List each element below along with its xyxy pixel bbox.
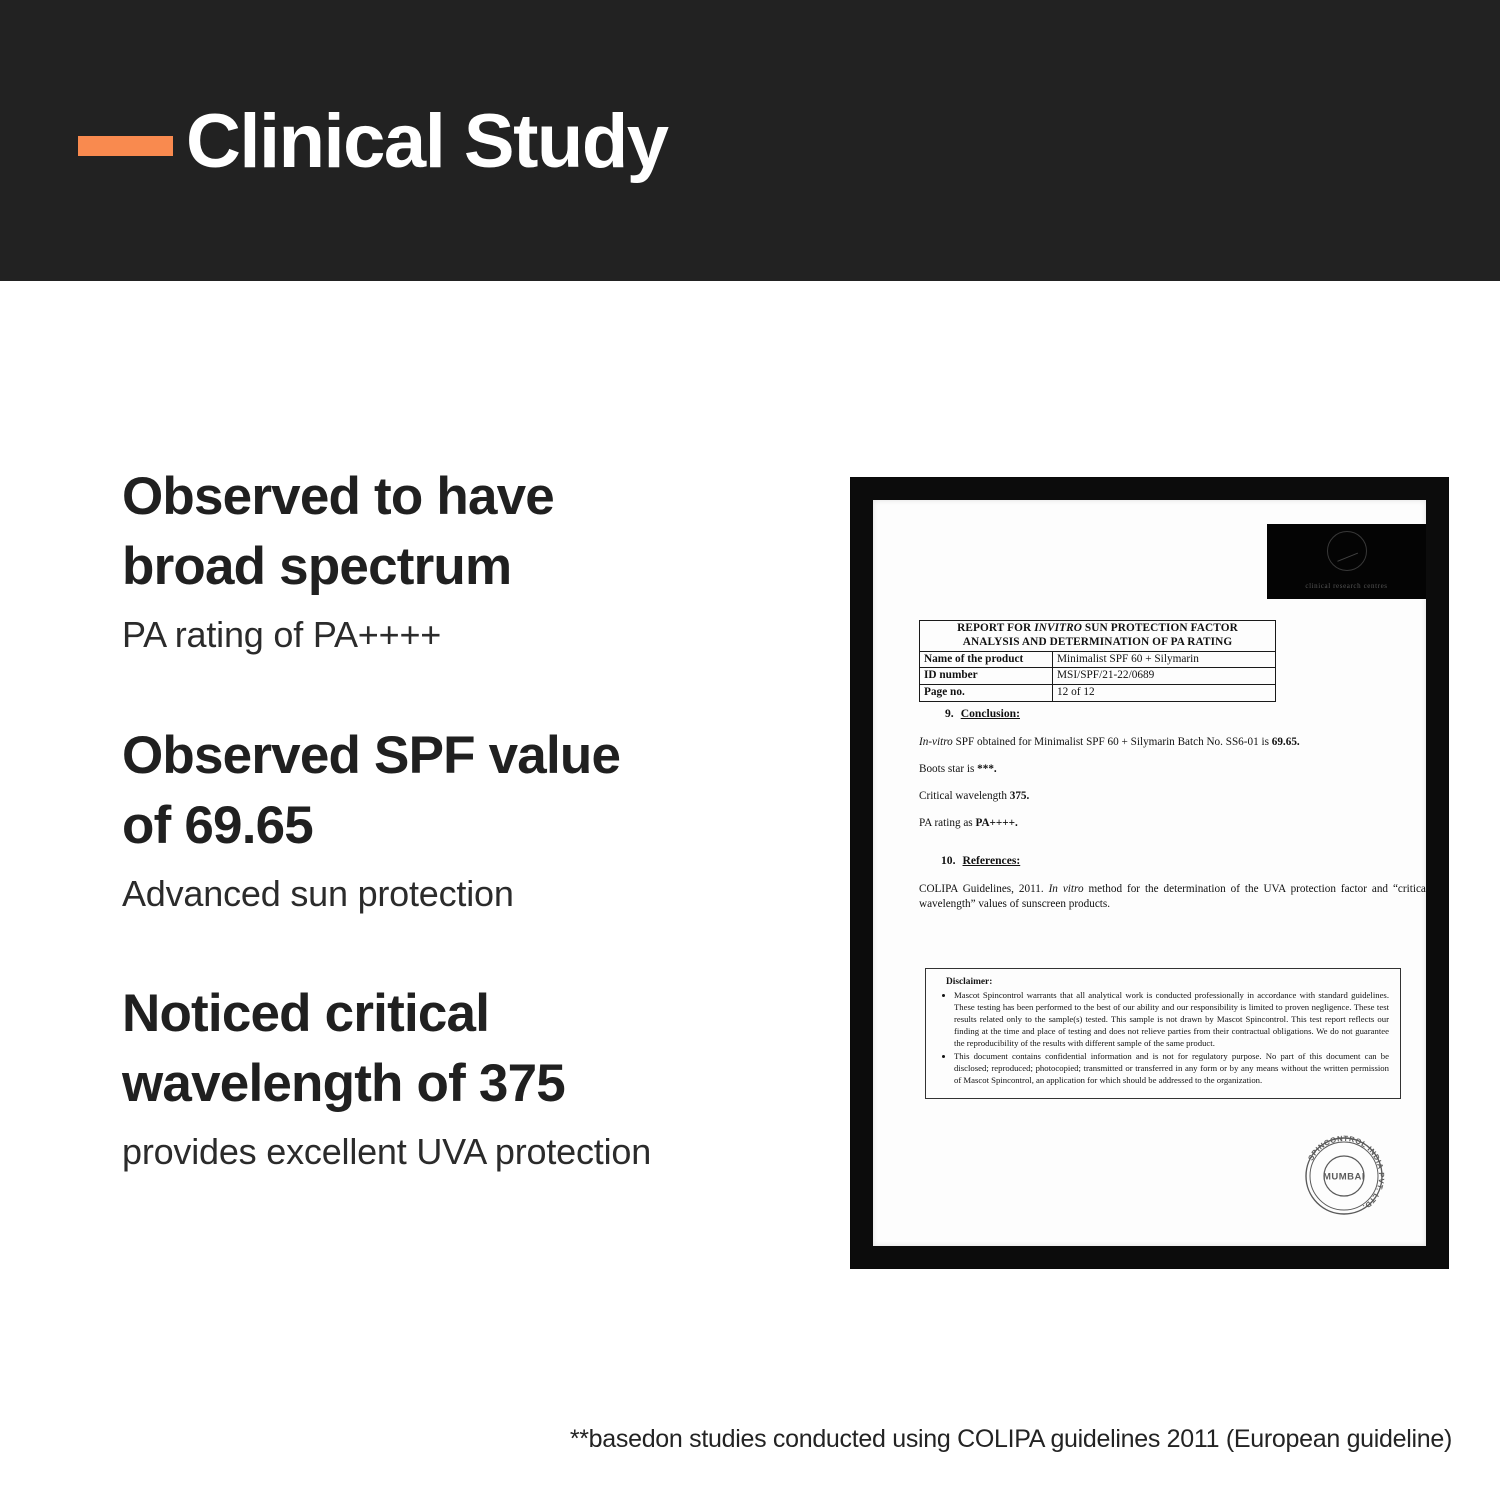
claim-subtext: provides excellent UVA protection bbox=[122, 1129, 822, 1176]
row-value: MSI/SPF/21-22/0689 bbox=[1053, 668, 1276, 685]
references-section-heading: 10.References: bbox=[941, 854, 1020, 867]
certificate-frame: clinical research centres REPORT FOR INV… bbox=[851, 478, 1448, 1268]
lab-logo: clinical research centres bbox=[1267, 524, 1426, 599]
conclusion-section-heading: 9.Conclusion: bbox=[945, 707, 1020, 720]
row-value: Minimalist SPF 60 + Silymarin bbox=[1053, 651, 1276, 668]
certificate-page: clinical research centres REPORT FOR INV… bbox=[873, 500, 1426, 1246]
title-post: SUN PROTECTION FACTOR bbox=[1082, 622, 1238, 634]
boots-value: ***. bbox=[977, 763, 997, 775]
table-row: ID number MSI/SPF/21-22/0689 bbox=[920, 668, 1276, 685]
globe-icon bbox=[1327, 531, 1367, 571]
references-number: 10. bbox=[941, 854, 956, 867]
disclaimer-title: Disclaimer: bbox=[946, 977, 1389, 987]
svg-text:MUMBAI: MUMBAI bbox=[1323, 1172, 1365, 1183]
disclaimer-item: Mascot Spincontrol warrants that all ana… bbox=[954, 989, 1389, 1049]
boots-label: Boots star is bbox=[919, 763, 977, 775]
spf-line-rest: SPF obtained for Minimalist SPF 60 + Sil… bbox=[953, 736, 1272, 748]
claim-subtext: Advanced sun protection bbox=[122, 871, 822, 918]
title-pre: REPORT FOR bbox=[957, 622, 1034, 634]
row-value: 12 of 12 bbox=[1053, 685, 1276, 702]
conclusion-number: 9. bbox=[945, 707, 954, 720]
lab-logo-caption: clinical research centres bbox=[1267, 582, 1426, 590]
claim-heading: Noticed critical wavelength of 375 bbox=[122, 979, 822, 1119]
report-header-table: REPORT FOR INVITRO SUN PROTECTION FACTOR… bbox=[919, 620, 1276, 702]
disclaimer-item: This document contains confidential info… bbox=[954, 1050, 1389, 1086]
disclaimer-box: Disclaimer: Mascot Spincontrol warrants … bbox=[925, 968, 1401, 1099]
title-em: INVITRO bbox=[1034, 622, 1082, 634]
references-heading-text: References: bbox=[963, 854, 1021, 867]
conclusion-line-boots: Boots star is ***. bbox=[919, 762, 1424, 777]
row-label: Name of the product bbox=[920, 651, 1053, 668]
wavelength-value: 375. bbox=[1010, 790, 1030, 802]
table-row: Name of the product Minimalist SPF 60 + … bbox=[920, 651, 1276, 668]
claim-subtext: PA rating of PA++++ bbox=[122, 612, 822, 659]
ref-em: In vitro bbox=[1049, 883, 1084, 895]
conclusion-line-spf: In-vitro SPF obtained for Minimalist SPF… bbox=[919, 735, 1424, 750]
row-label: ID number bbox=[920, 668, 1053, 685]
spf-value: 69.65. bbox=[1272, 736, 1300, 748]
wavelength-label: Critical wavelength bbox=[919, 790, 1010, 802]
references-text: COLIPA Guidelines, 2011. In vitro method… bbox=[919, 882, 1426, 912]
ref-pre: COLIPA Guidelines, 2011. bbox=[919, 883, 1049, 895]
claim-item: Observed SPF value of 69.65 Advanced sun… bbox=[122, 721, 822, 918]
claim-item: Noticed critical wavelength of 375 provi… bbox=[122, 979, 822, 1176]
accent-dash-icon bbox=[78, 136, 173, 156]
row-label: Page no. bbox=[920, 685, 1053, 702]
in-vitro-em: In-vitro bbox=[919, 736, 953, 748]
claims-list: Observed to have broad spectrum PA ratin… bbox=[122, 462, 822, 1176]
title-line2: ANALYSIS AND DETERMINATION OF PA RATING bbox=[963, 636, 1233, 648]
claim-heading: Observed SPF value of 69.65 bbox=[122, 721, 822, 861]
page-title: Clinical Study bbox=[186, 104, 668, 180]
conclusion-heading-text: Conclusion: bbox=[961, 707, 1020, 720]
company-stamp-icon: SPINCONTROL INDIA PVT. LTD. MUMBAI bbox=[1298, 1130, 1390, 1222]
disclaimer-list: Mascot Spincontrol warrants that all ana… bbox=[937, 989, 1389, 1086]
page-header: Clinical Study bbox=[0, 0, 1500, 281]
table-row: REPORT FOR INVITRO SUN PROTECTION FACTOR… bbox=[920, 621, 1276, 652]
claim-heading: Observed to have broad spectrum bbox=[122, 462, 822, 602]
conclusion-line-wavelength: Critical wavelength 375. bbox=[919, 789, 1424, 804]
table-row: Page no. 12 of 12 bbox=[920, 685, 1276, 702]
pa-label: PA rating as bbox=[919, 817, 975, 829]
claim-item: Observed to have broad spectrum PA ratin… bbox=[122, 462, 822, 659]
footnote: **basedon studies conducted using COLIPA… bbox=[570, 1425, 1452, 1454]
pa-value: PA++++. bbox=[975, 817, 1017, 829]
conclusion-line-pa: PA rating as PA++++. bbox=[919, 816, 1424, 831]
report-table-title: REPORT FOR INVITRO SUN PROTECTION FACTOR… bbox=[920, 621, 1276, 652]
